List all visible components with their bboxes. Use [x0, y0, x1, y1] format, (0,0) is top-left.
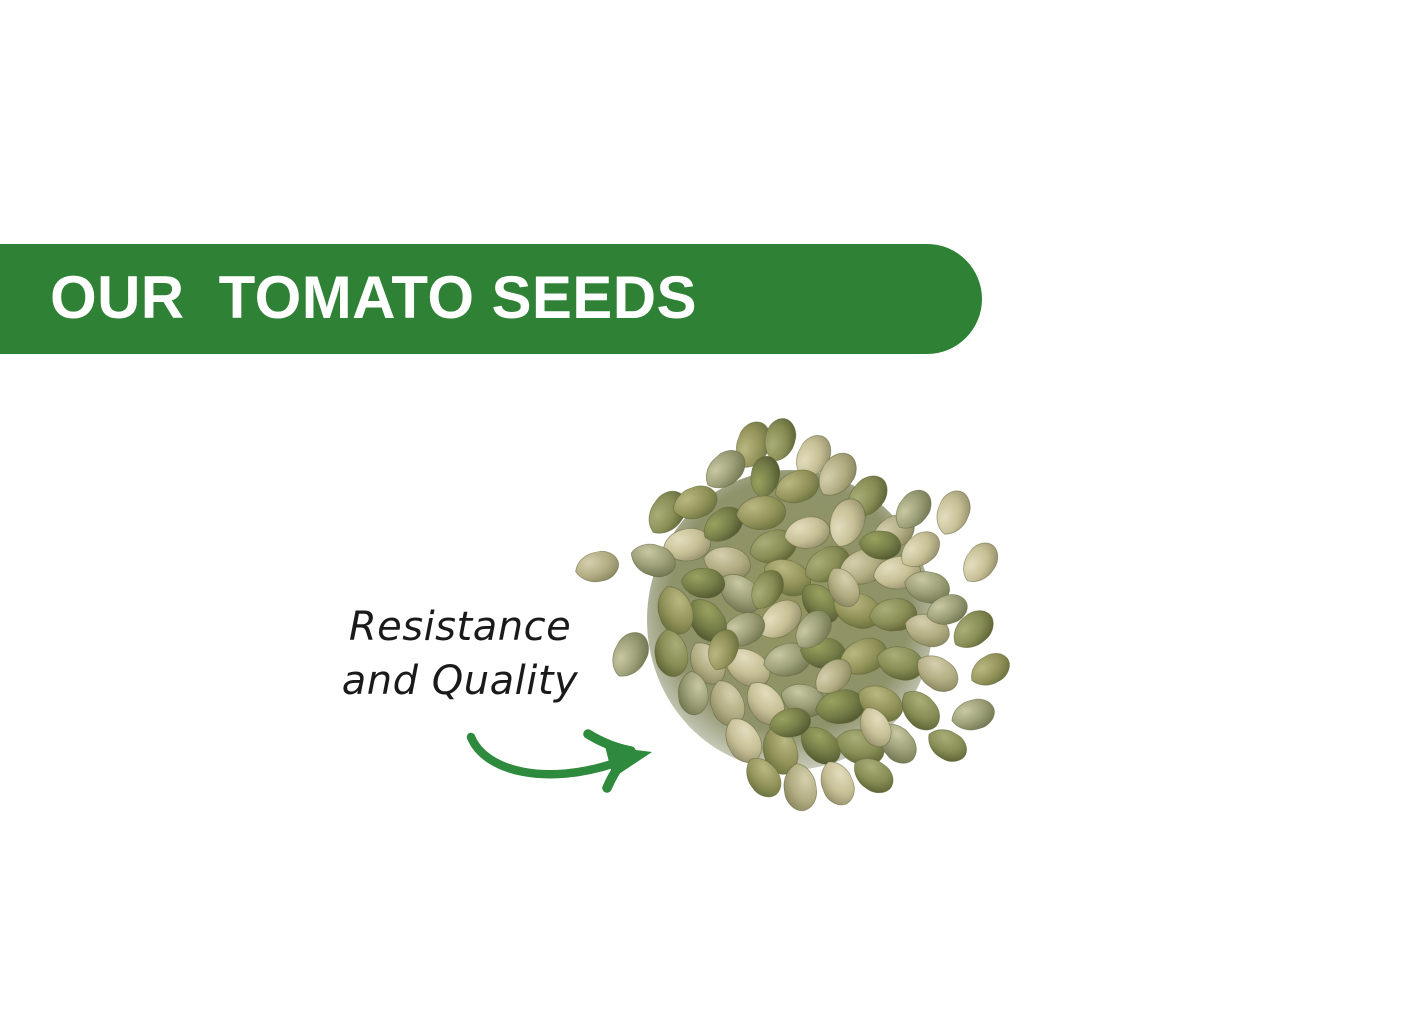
annotation-line-1: Resistance	[300, 600, 620, 654]
annotation-text: Resistance and Quality	[300, 600, 620, 708]
page-title: OUR TOMATO SEEDS	[50, 268, 697, 328]
curved-arrow-right-icon	[455, 720, 675, 810]
annotation-line-2: and Quality	[300, 654, 620, 708]
title-banner: OUR TOMATO SEEDS	[0, 244, 982, 354]
slide-canvas: OUR TOMATO SEEDS	[0, 0, 1413, 1019]
